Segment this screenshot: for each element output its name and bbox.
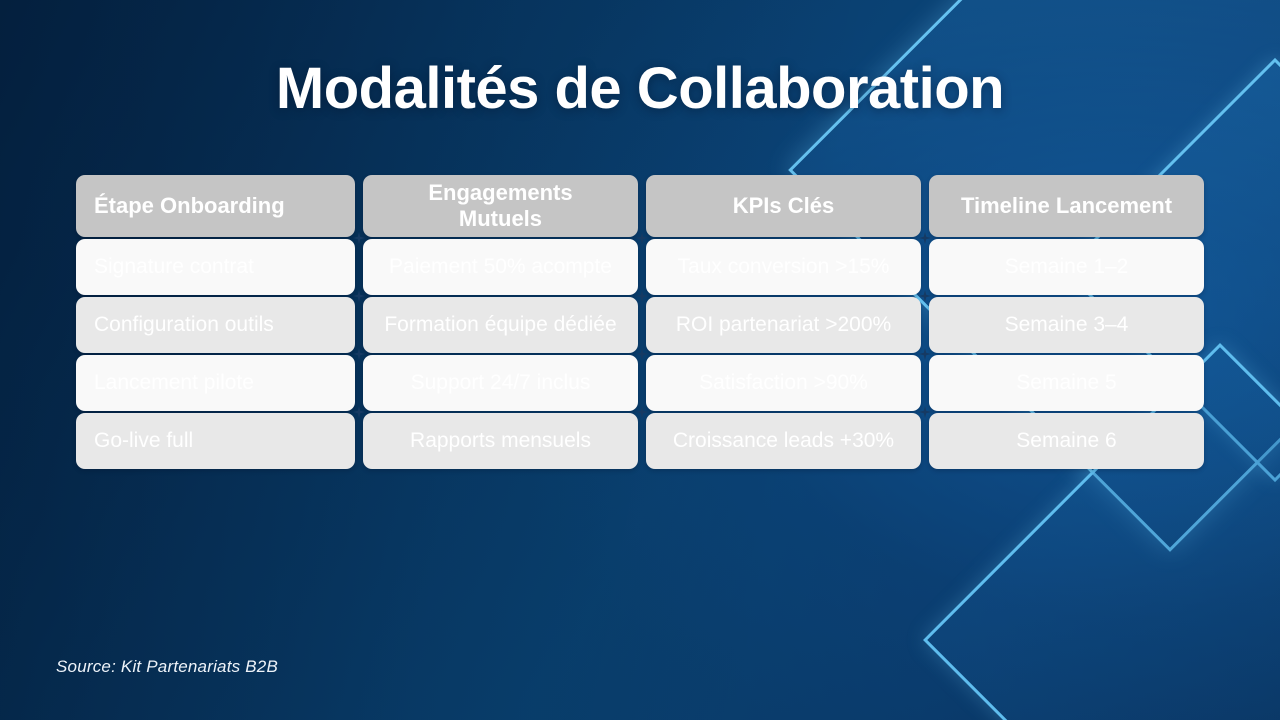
cell-kpi: Croissance leads +30% — [646, 413, 921, 469]
cell-engagement: Paiement 50% acompte — [363, 239, 638, 295]
column-header-engagements-line2: Mutuels — [428, 206, 572, 232]
cell-kpi: ROI partenariat >200% — [646, 297, 921, 353]
table-row: Configuration outils Formation équipe dé… — [76, 297, 1204, 353]
cell-etape: Configuration outils — [76, 297, 355, 353]
column-header-engagements-line1: Engagements — [428, 180, 572, 206]
column-header-etape-onboarding-label: Étape Onboarding — [94, 193, 285, 219]
table-row: Signature contrat Paiement 50% acompte T… — [76, 239, 1204, 295]
column-header-kpis-cles: KPIs Clés — [646, 175, 921, 237]
cell-timeline: Semaine 3–4 — [929, 297, 1204, 353]
collaboration-table: Étape Onboarding Engagements Mutuels KPI… — [76, 175, 1204, 471]
page-title: Modalités de Collaboration — [0, 57, 1280, 121]
source-caption: Source: Kit Partenariats B2B — [56, 657, 278, 677]
slide-canvas: Modalités de Collaboration Étape Onboard… — [0, 0, 1280, 720]
cell-kpi: Taux conversion >15% — [646, 239, 921, 295]
column-header-timeline-lancement-label: Timeline Lancement — [961, 193, 1172, 219]
cell-timeline: Semaine 1–2 — [929, 239, 1204, 295]
cell-timeline: Semaine 5 — [929, 355, 1204, 411]
cell-kpi: Satisfaction >90% — [646, 355, 921, 411]
cell-etape: Go-live full — [76, 413, 355, 469]
table-row: Go-live full Rapports mensuels Croissanc… — [76, 413, 1204, 469]
cell-engagement: Support 24/7 inclus — [363, 355, 638, 411]
cell-etape: Signature contrat — [76, 239, 355, 295]
table-header-row: Étape Onboarding Engagements Mutuels KPI… — [76, 175, 1204, 237]
column-header-engagements-mutuels: Engagements Mutuels — [363, 175, 638, 237]
column-header-kpis-cles-label: KPIs Clés — [733, 193, 835, 219]
column-header-etape-onboarding: Étape Onboarding — [76, 175, 355, 237]
cell-engagement: Rapports mensuels — [363, 413, 638, 469]
column-header-timeline-lancement: Timeline Lancement — [929, 175, 1204, 237]
cell-etape: Lancement pilote — [76, 355, 355, 411]
table-row: Lancement pilote Support 24/7 inclus Sat… — [76, 355, 1204, 411]
cell-timeline: Semaine 6 — [929, 413, 1204, 469]
cell-engagement: Formation équipe dédiée — [363, 297, 638, 353]
